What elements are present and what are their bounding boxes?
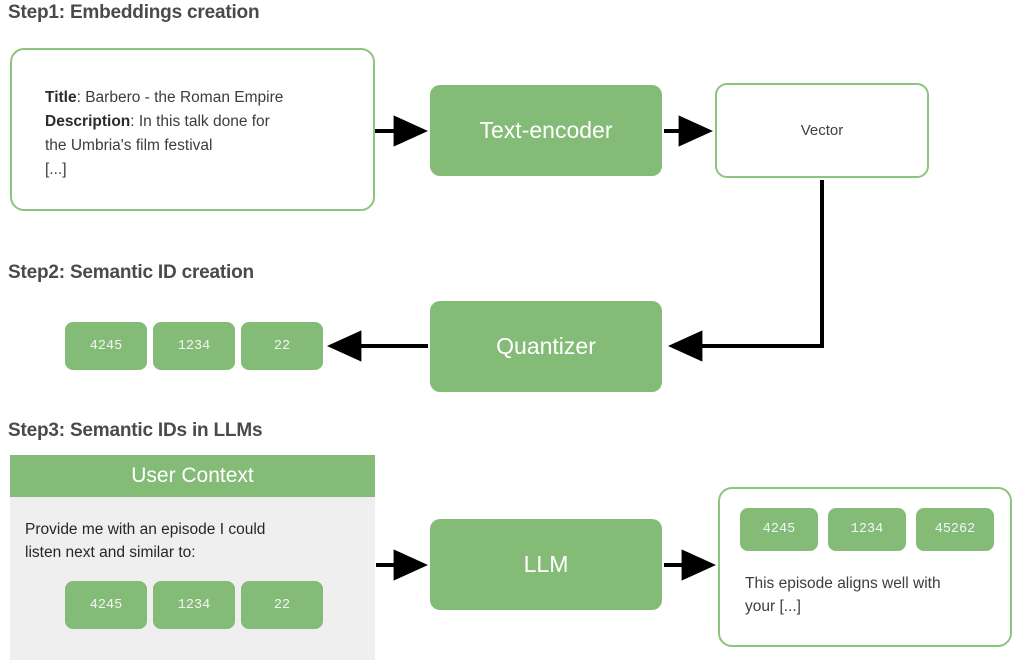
context-id-chip[interactable]: 1234 xyxy=(153,581,235,629)
vector-label: Vector xyxy=(801,122,844,139)
step1-title: Step1: Embeddings creation xyxy=(8,2,259,24)
semantic-id-chip[interactable]: 1234 xyxy=(153,322,235,370)
step3-title: Step3: Semantic IDs in LLMs xyxy=(8,420,262,442)
llm-output-line1: This episode aligns well with xyxy=(745,572,1000,595)
output-id-chip[interactable]: 45262 xyxy=(916,508,994,551)
context-id-chip-label: 1234 xyxy=(178,598,210,613)
semantic-id-chip-label: 4245 xyxy=(90,339,122,354)
arrow-vector-to-quantizer xyxy=(672,180,822,346)
user-context-header-label: User Context xyxy=(131,464,254,488)
output-id-chip-label: 4245 xyxy=(763,522,795,537)
document-description-value: : In this talk done for xyxy=(130,113,270,130)
llm-output-text: This episode aligns well with your [...] xyxy=(745,572,1000,618)
llm-box[interactable]: LLM xyxy=(430,519,662,610)
context-id-chip[interactable]: 4245 xyxy=(65,581,147,629)
user-prompt-text: Provide me with an episode I could liste… xyxy=(25,518,365,564)
user-context-header: User Context xyxy=(10,455,375,497)
quantizer-label: Quantizer xyxy=(496,333,596,360)
document-title-value: : Barbero - the Roman Empire xyxy=(77,89,284,106)
semantic-id-chip[interactable]: 22 xyxy=(241,322,323,370)
text-encoder-label: Text-encoder xyxy=(480,117,613,144)
context-id-chip-label: 4245 xyxy=(90,598,122,613)
source-document-text: Title: Barbero - the Roman Empire Descri… xyxy=(45,86,365,182)
output-id-chip[interactable]: 4245 xyxy=(740,508,818,551)
text-encoder-box[interactable]: Text-encoder xyxy=(430,85,662,176)
output-id-chip[interactable]: 1234 xyxy=(828,508,906,551)
quantizer-box[interactable]: Quantizer xyxy=(430,301,662,392)
user-prompt-line2: listen next and similar to: xyxy=(25,541,365,564)
semantic-id-chip-label: 1234 xyxy=(178,339,210,354)
document-description-label: Description xyxy=(45,113,130,130)
output-id-chip-label: 1234 xyxy=(851,522,883,537)
document-title-label: Title xyxy=(45,89,77,106)
semantic-id-chip-label: 22 xyxy=(274,339,290,354)
vector-box[interactable]: Vector xyxy=(715,83,929,178)
llm-label: LLM xyxy=(524,551,569,578)
step2-title: Step2: Semantic ID creation xyxy=(8,262,254,284)
user-prompt-line1: Provide me with an episode I could xyxy=(25,518,365,541)
llm-output-line2: your [...] xyxy=(745,595,1000,618)
semantic-id-chip[interactable]: 4245 xyxy=(65,322,147,370)
context-id-chip-label: 22 xyxy=(274,598,290,613)
document-description-line2: the Umbria's film festival xyxy=(45,134,365,158)
document-ellipsis: [...] xyxy=(45,158,365,182)
output-id-chip-label: 45262 xyxy=(935,522,976,537)
diagram-canvas: Step1: Embeddings creation Title: Barber… xyxy=(0,0,1024,663)
context-id-chip[interactable]: 22 xyxy=(241,581,323,629)
